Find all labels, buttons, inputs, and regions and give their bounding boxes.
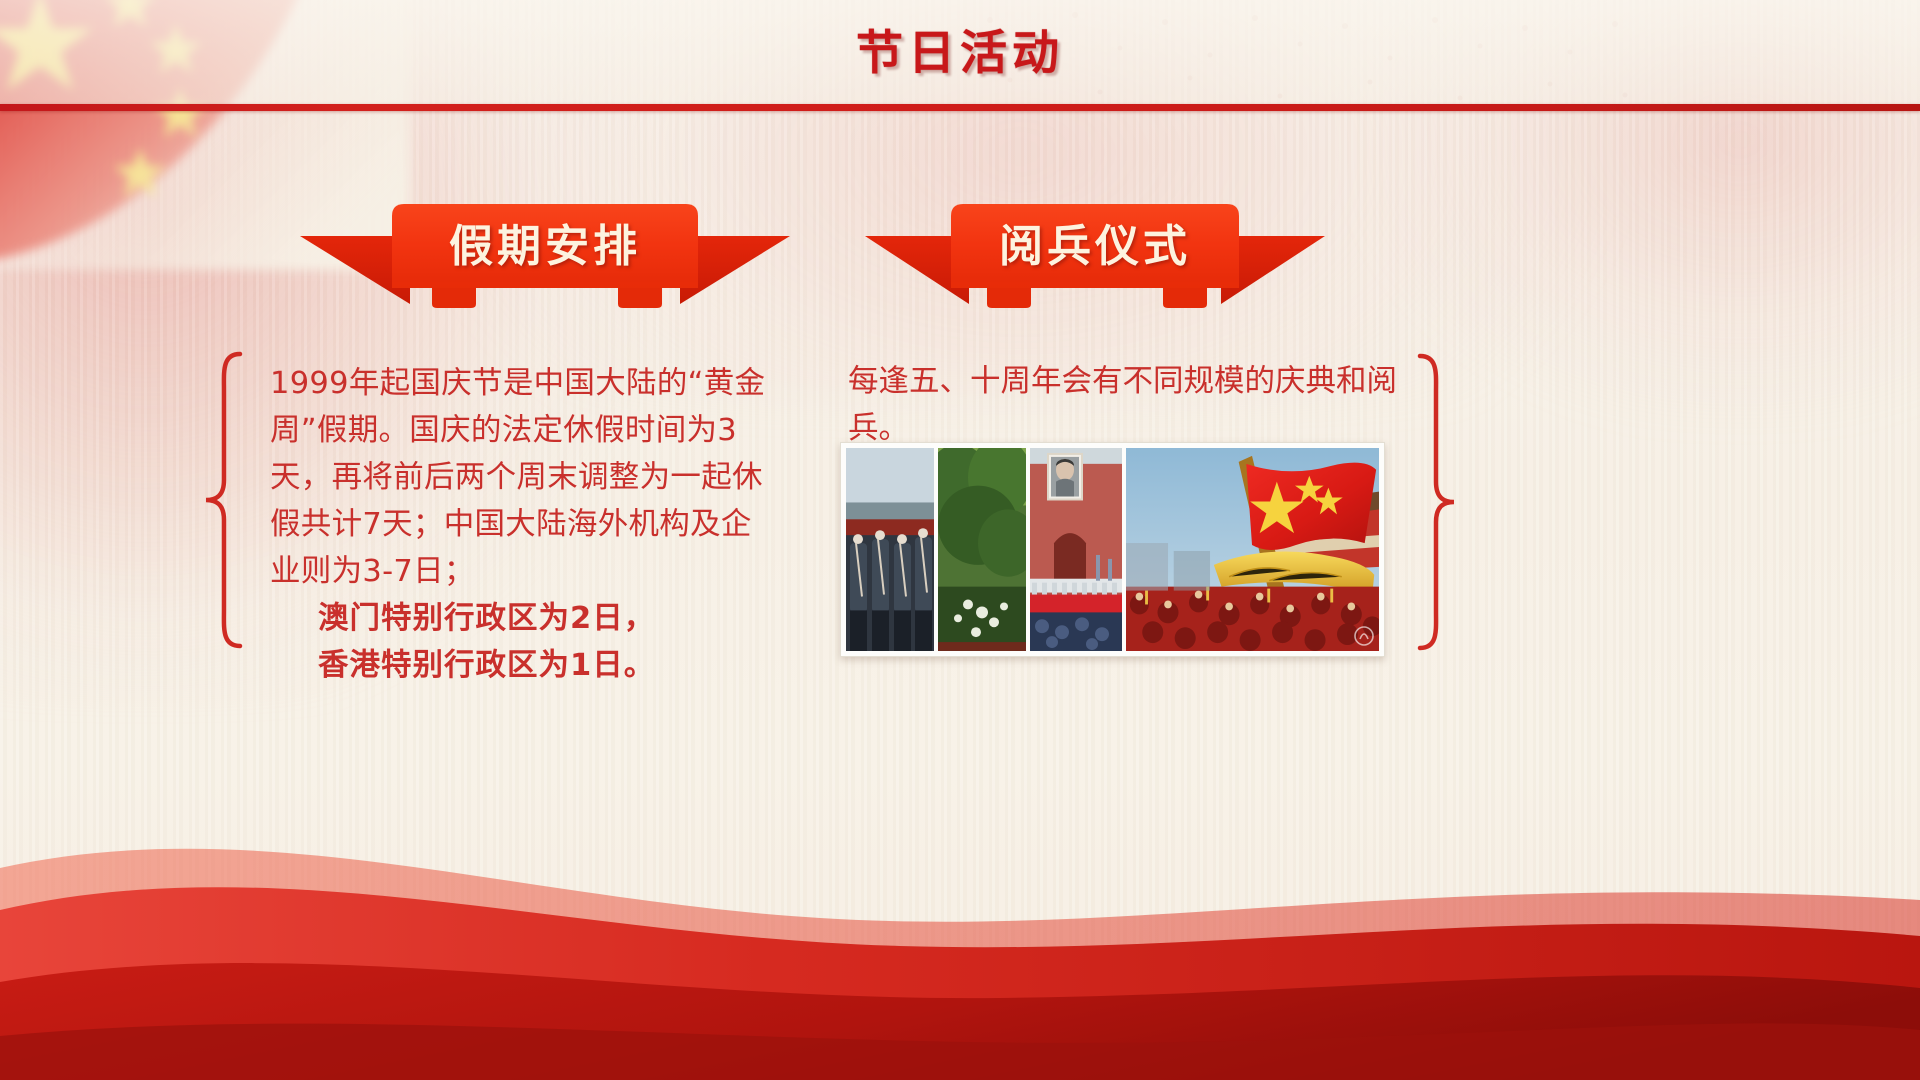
holiday-arrangement-paragraph: 1999年起国庆节是中国大陆的“黄金周”假期。国庆的法定休假时间为3天，再将前后…: [270, 366, 765, 589]
honor-guard-marching-icon: [846, 448, 934, 651]
parade-photo-collage[interactable]: [840, 442, 1385, 657]
content-block-holiday-arrangement: 1999年起国庆节是中国大陆的“黄金周”假期。国庆的法定休假时间为3天，再将前后…: [200, 350, 830, 650]
ribbon-label-holiday-arrangement: 假期安排: [300, 196, 790, 288]
holiday-arrangement-bold-line-2: 香港特别行政区为1日。: [270, 642, 780, 689]
photo-honor-guard-marching[interactable]: [846, 448, 934, 651]
photo-tiananmen-trees-avenue[interactable]: [938, 448, 1026, 651]
header-divider: [0, 104, 1920, 111]
holiday-arrangement-bold-line-1: 澳门特别行政区为2日，: [270, 595, 780, 642]
curly-brace-right-icon: [1416, 352, 1460, 652]
photo-national-flag-float-parade[interactable]: [1126, 448, 1379, 651]
ribbon-label-military-parade: 阅兵仪式: [865, 196, 1325, 288]
tiananmen-trees-avenue-icon: [938, 448, 1026, 651]
section-ribbon-military-parade[interactable]: 阅兵仪式: [865, 196, 1325, 314]
holiday-arrangement-text: 1999年起国庆节是中国大陆的“黄金周”假期。国庆的法定休假时间为3天，再将前后…: [270, 360, 780, 689]
curly-brace-left-icon: [200, 350, 248, 650]
content-block-military-parade: 每逢五、十周年会有不同规模的庆典和阅兵。: [840, 352, 1460, 652]
bottom-red-wave-decoration: [0, 750, 1920, 1080]
watermark-logo-icon: [1354, 626, 1374, 646]
slide-canvas: 节日活动: [0, 0, 1920, 1080]
page-title: 节日活动: [0, 14, 1920, 83]
section-ribbon-holiday-arrangement[interactable]: 假期安排: [300, 196, 790, 314]
slide-header: 节日活动: [0, 0, 1920, 110]
national-flag-float-parade-icon: [1126, 448, 1379, 651]
tiananmen-mao-portrait-icon: [1030, 448, 1122, 651]
photo-tiananmen-mao-portrait[interactable]: [1030, 448, 1122, 651]
military-parade-paragraph: 每逢五、十周年会有不同规模的庆典和阅兵。: [848, 358, 1448, 452]
